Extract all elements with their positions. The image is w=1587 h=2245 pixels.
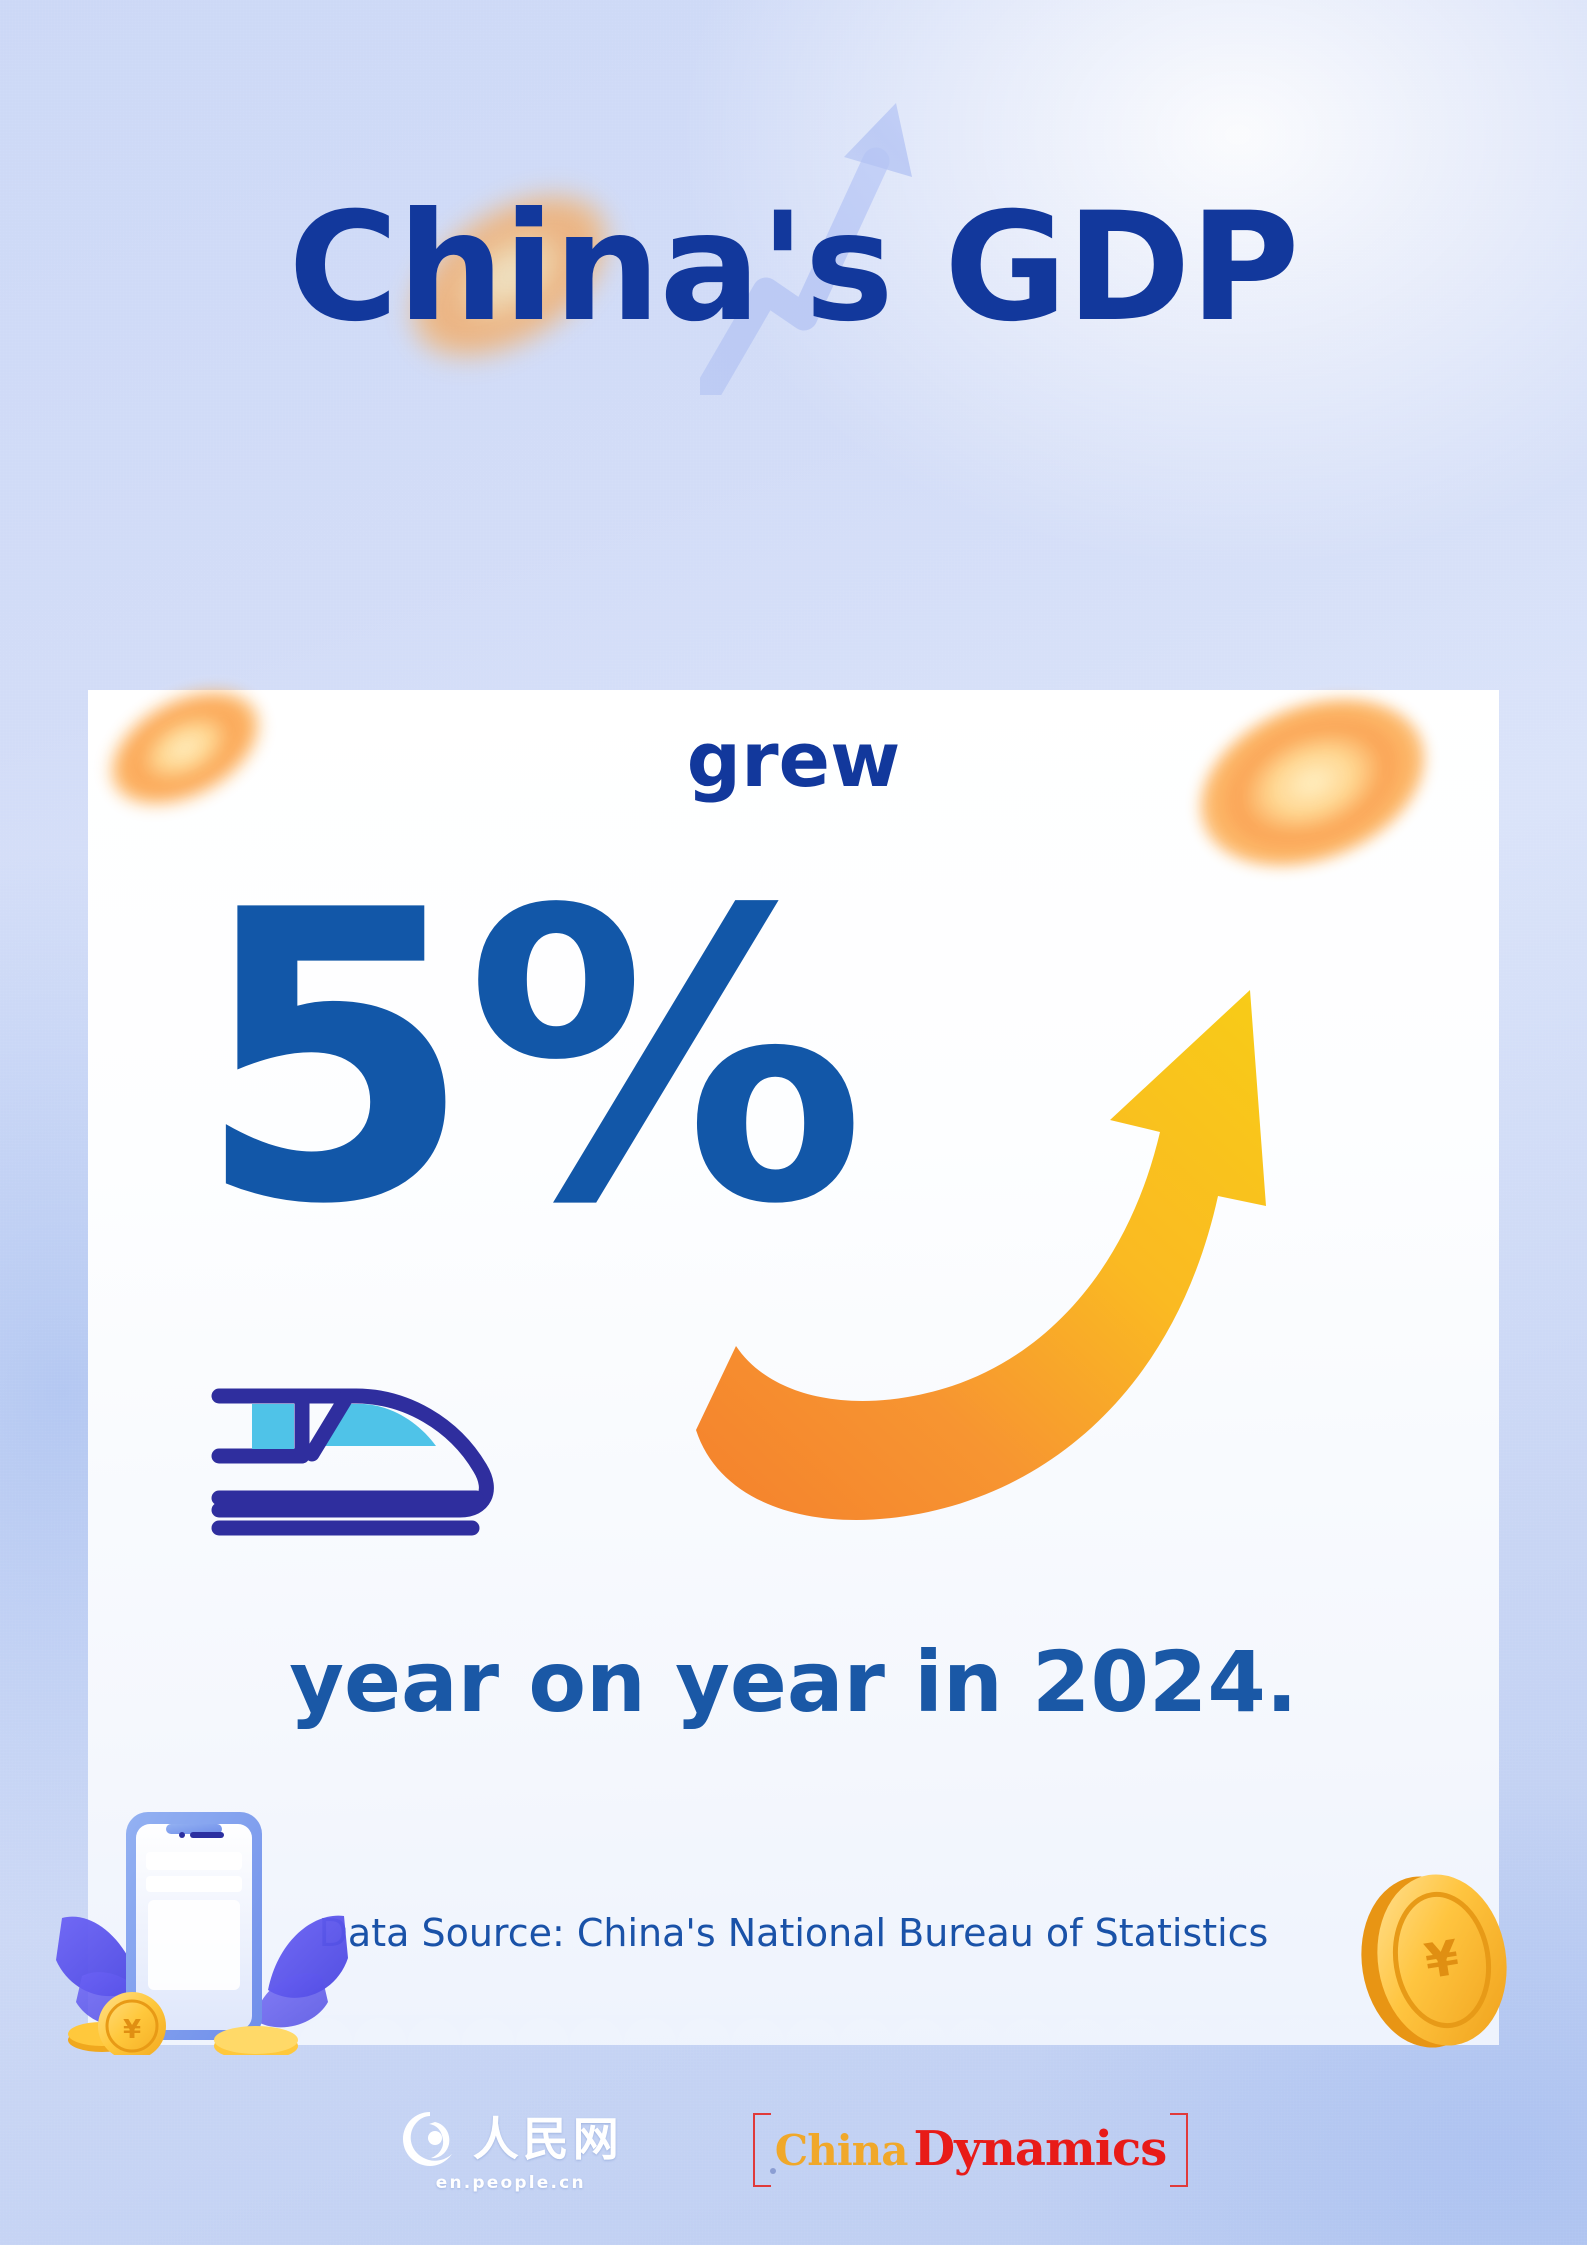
china-dynamics-badge[interactable]: China Dynamics bbox=[753, 2113, 1188, 2187]
gdp-growth-value: 5% bbox=[195, 860, 858, 1260]
page-title: China's GDP bbox=[0, 193, 1587, 343]
china-dynamics-dynamics-word: Dynamics bbox=[913, 2125, 1166, 2173]
footer-separator-dot bbox=[770, 2168, 776, 2174]
high-speed-train-icon bbox=[196, 1358, 516, 1538]
china-dynamics-china-word: China bbox=[775, 2130, 908, 2172]
svg-text:¥: ¥ bbox=[123, 2015, 141, 2045]
badge-bracket-left bbox=[753, 2113, 771, 2187]
title-part-gdp: GDP bbox=[944, 181, 1299, 355]
people-daily-chinese-name: 人民网 bbox=[473, 2116, 623, 2162]
headline-verb: grew bbox=[0, 722, 1587, 798]
people-daily-logo[interactable]: 人民网 en.people.cn bbox=[399, 2108, 623, 2193]
people-daily-url[interactable]: en.people.cn bbox=[436, 2173, 586, 2193]
badge-bracket-right bbox=[1170, 2113, 1188, 2187]
yuan-coin-icon: ¥ bbox=[1348, 1866, 1538, 2056]
people-daily-globe-icon bbox=[399, 2108, 461, 2170]
period-text: year on year in 2024. bbox=[0, 1640, 1587, 1724]
infographic-poster: China's GDP bbox=[0, 0, 1587, 2245]
footer-branding: 人民网 en.people.cn China Dynamics bbox=[0, 2085, 1587, 2215]
title-part-country: China's bbox=[288, 181, 944, 355]
smartphone-illustration-icon: ¥ bbox=[48, 1790, 358, 2055]
